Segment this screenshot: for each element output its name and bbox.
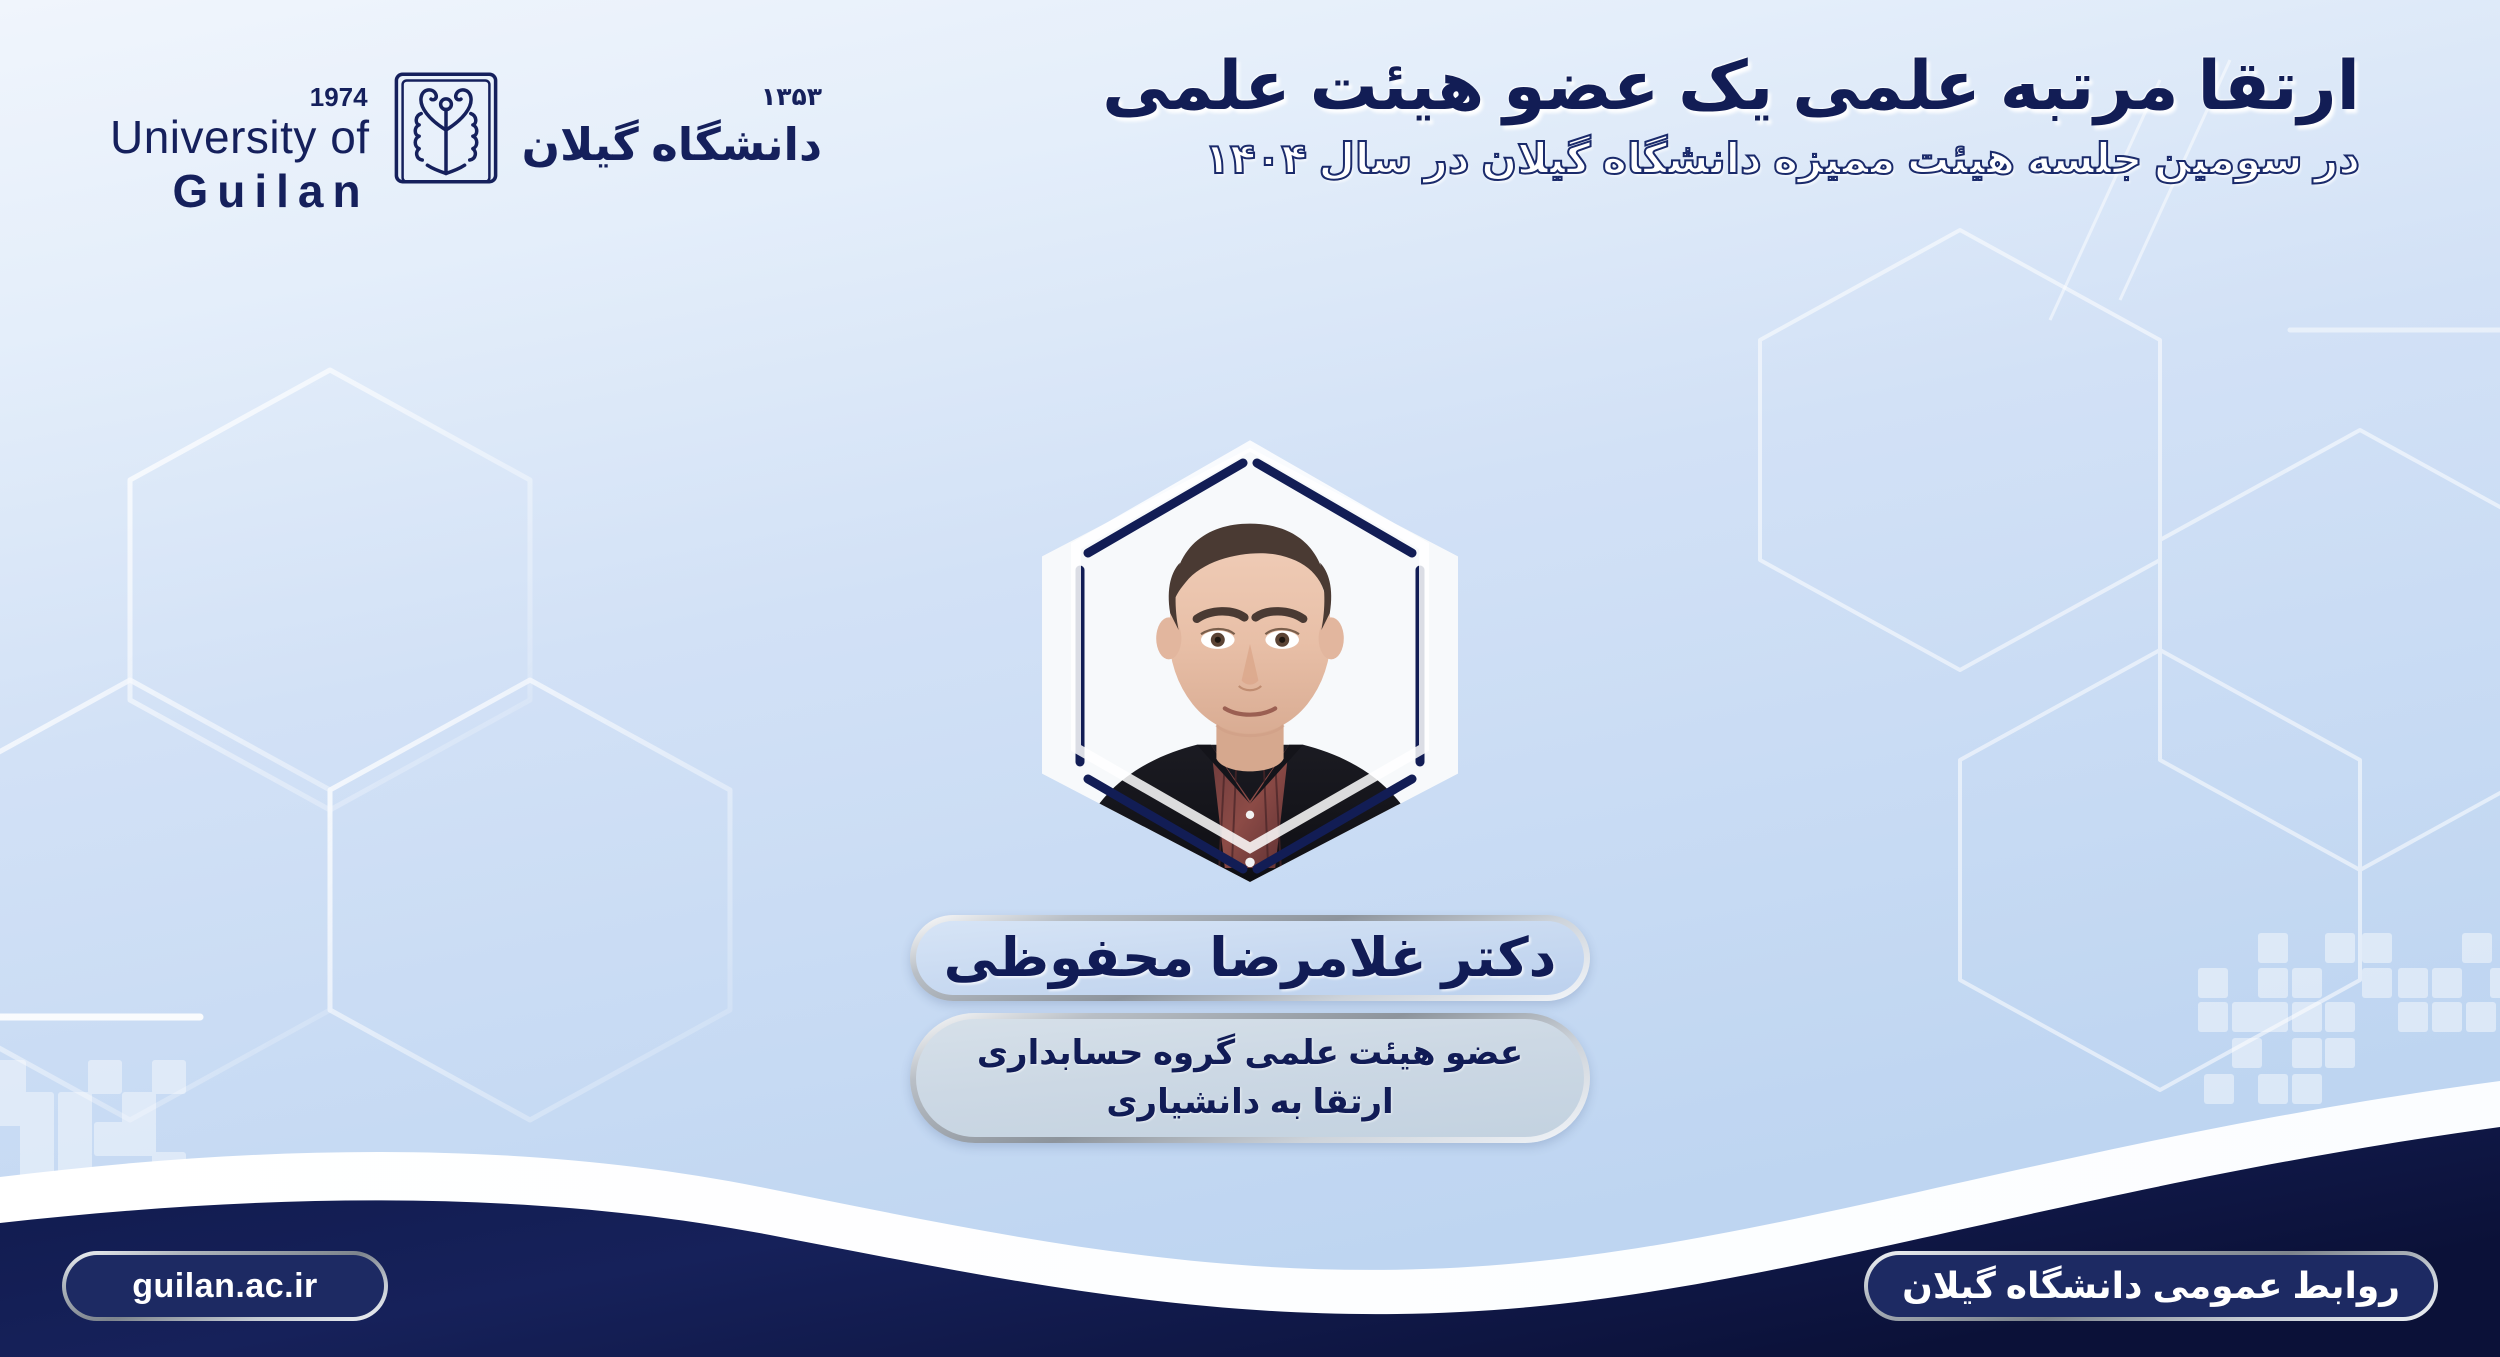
- guilan-university-emblem-icon: [384, 66, 508, 190]
- portrait-photo: [1042, 448, 1458, 882]
- page-subtitle: در سومین جلسه هیئت ممیزه دانشگاه گیلان د…: [1102, 132, 2360, 187]
- logo-university-name-fa: دانشگاه گیلان: [522, 118, 822, 171]
- public-relations-badge: روابط عمومی دانشگاه گیلان: [1864, 1251, 2438, 1321]
- logo-english-text: 1974 University of Guilan: [110, 48, 370, 214]
- profile-role-line-1: عضو هیئت علمی گروه حسابداری: [977, 1029, 1523, 1078]
- logo-year-fa: ۱۳۵۳: [761, 82, 822, 112]
- title-group: ارتقا مرتبه علمی یک عضو هیئت علمی در سوم…: [1102, 46, 2360, 187]
- public-relations-label: روابط عمومی دانشگاه گیلان: [1902, 1265, 2400, 1307]
- logo-university-word: University of: [110, 114, 370, 160]
- page-title: ارتقا مرتبه علمی یک عضو هیئت علمی: [1102, 46, 2360, 126]
- poster-header: 1974 University of Guilan: [0, 0, 2500, 270]
- logo-persian-text: ۱۳۵۳ دانشگاه گیلان: [522, 48, 822, 171]
- logo-year-en: 1974: [310, 84, 368, 110]
- website-badge[interactable]: guilan.ac.ir: [62, 1251, 388, 1321]
- profile-role-line-2: ارتقا به دانشیاری: [1106, 1078, 1393, 1127]
- university-logo: 1974 University of Guilan: [110, 48, 822, 214]
- profile-name: دکتر غلامرضا محفوظی: [944, 931, 1557, 985]
- profile-role-pill: عضو هیئت علمی گروه حسابداری ارتقا به دان…: [910, 1013, 1590, 1143]
- website-url: guilan.ac.ir: [132, 1267, 318, 1306]
- logo-guilan-word: Guilan: [172, 168, 369, 214]
- poster-root: 1974 University of Guilan: [0, 0, 2500, 1357]
- profile-portrait: [1020, 430, 1480, 900]
- profile-info-block: دکتر غلامرضا محفوظی عضو هیئت علمی گروه ح…: [910, 915, 1590, 1143]
- profile-name-pill: دکتر غلامرضا محفوظی: [910, 915, 1590, 1001]
